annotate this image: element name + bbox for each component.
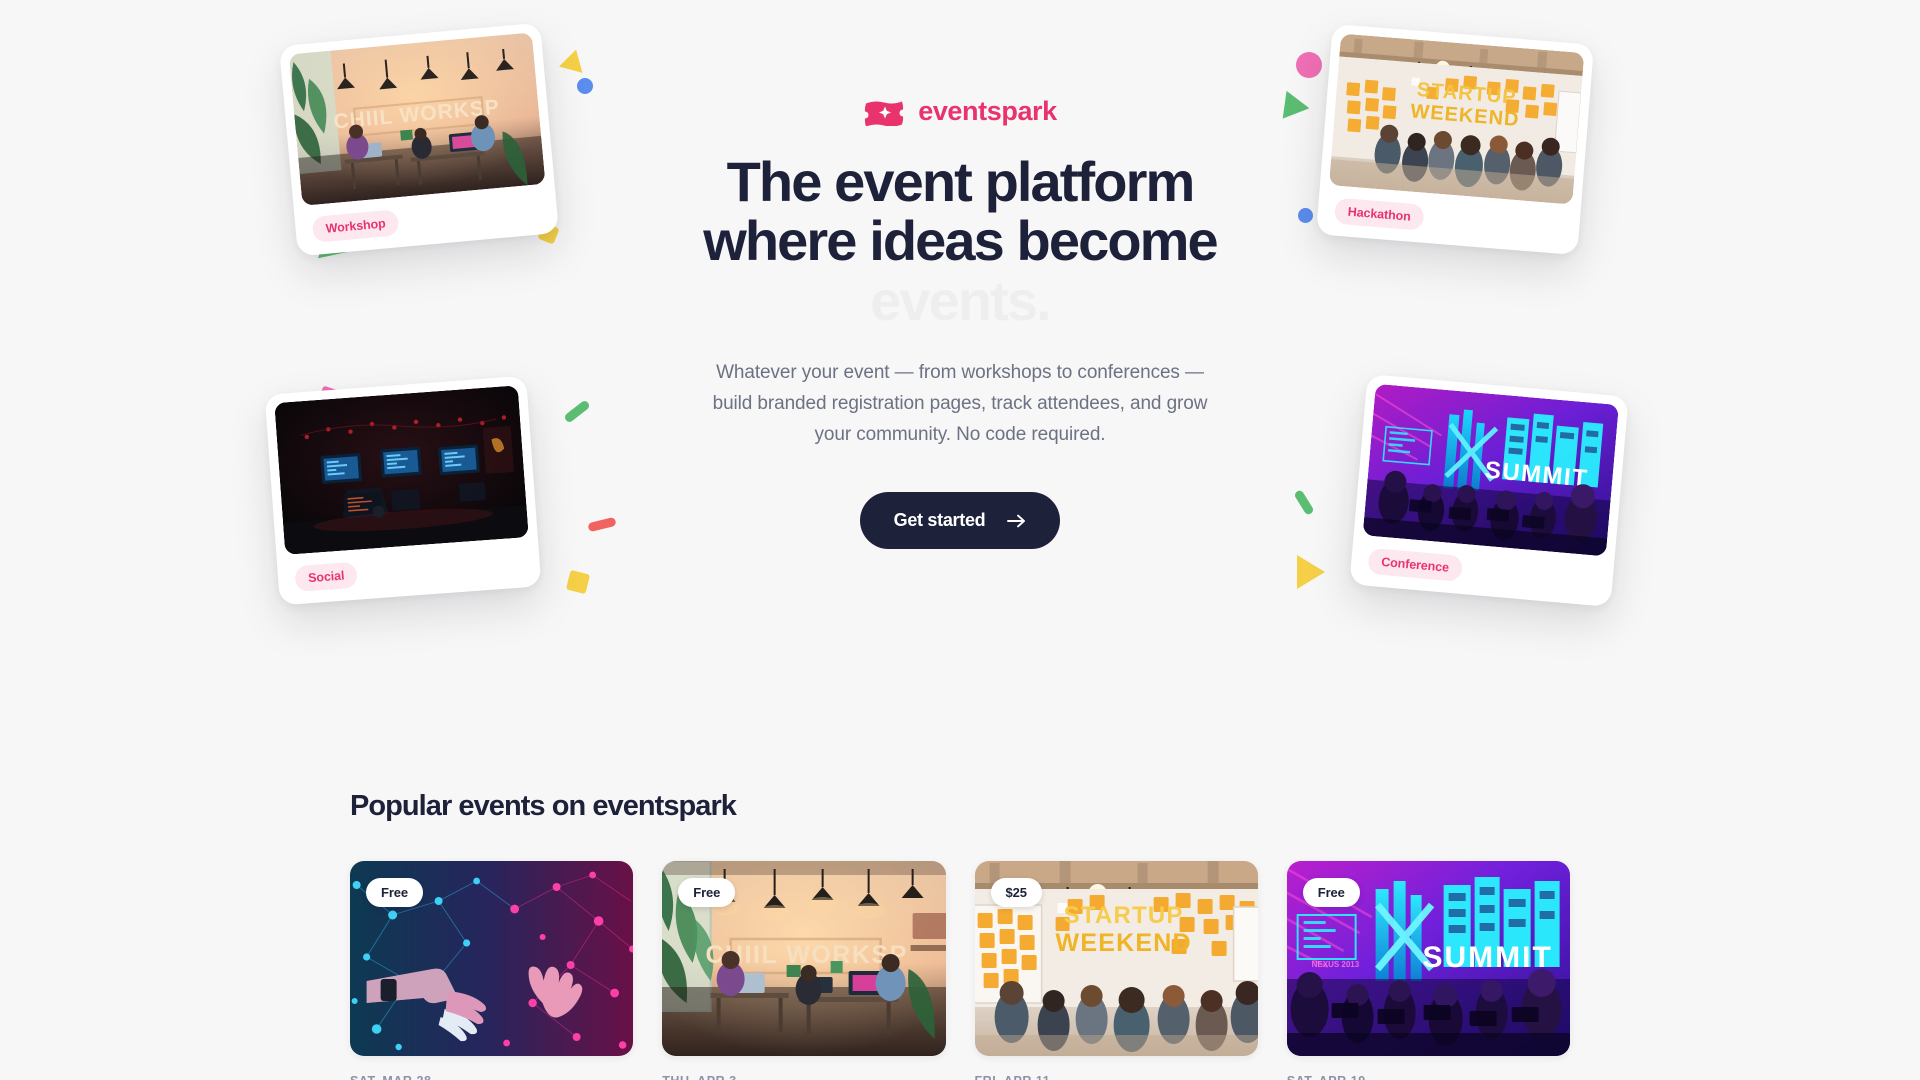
event-date: SAT, MAR 28 <box>350 1074 633 1080</box>
hero-content: eventspark The event platform where idea… <box>650 96 1270 549</box>
floating-card-badge: Conference <box>1367 548 1463 582</box>
event-price-badge: Free <box>1303 878 1360 907</box>
event-date: FRI, APR 11 <box>975 1074 1258 1080</box>
cta-container: Get started <box>650 492 1270 549</box>
event-price-badge: $25 <box>991 878 1042 907</box>
get-started-button[interactable]: Get started <box>860 492 1061 549</box>
confetti-dash-red <box>587 517 616 533</box>
ticket-icon <box>863 98 905 126</box>
confetti-triangle-yellow-right <box>1297 555 1325 589</box>
floating-card-badge: Hackathon <box>1334 198 1425 231</box>
floating-card-workshop[interactable]: CHIIL WORKSP Workshop <box>279 23 559 257</box>
confetti-circle-blue-right <box>1298 208 1313 223</box>
confetti-square-yellow-2 <box>566 570 590 594</box>
event-date: THU, APR 3 <box>662 1074 945 1080</box>
floating-card-badge: Social <box>294 562 358 592</box>
floating-card-social[interactable]: Social <box>265 376 542 606</box>
svg-text:STARTUP: STARTUP <box>1063 902 1183 929</box>
floating-card-badge: Workshop <box>312 209 400 243</box>
popular-events-container: Popular events on eventspark <box>350 790 1570 1080</box>
event-image-ai-hackathon: Free <box>350 861 633 1056</box>
brand-name: eventspark <box>918 96 1057 127</box>
svg-text:NEXUS 2013: NEXUS 2013 <box>1311 960 1359 969</box>
event-image-startup-weekend: STARTUP WEEKEND <box>975 861 1258 1056</box>
svg-text:WEEKEND: WEEKEND <box>1055 929 1191 957</box>
confetti-dash-green-right <box>1293 489 1314 516</box>
arrow-right-icon <box>1007 514 1026 528</box>
event-grid: Free SAT, MAR 28 AI hackathon <box>350 861 1570 1080</box>
hero-subheadline: Whatever your event — from workshops to … <box>700 358 1220 450</box>
section-title: Popular events on eventspark <box>350 790 1570 823</box>
hero-section: CHIIL WORKSP Workshop <box>0 0 1920 745</box>
popular-events-section: Popular events on eventspark <box>0 745 1920 1080</box>
event-card[interactable]: Free SAT, MAR 28 AI hackathon <box>350 861 633 1080</box>
confetti-triangle-green-right <box>1283 91 1312 122</box>
floating-card-image-conference: SUMMIT <box>1363 384 1619 557</box>
svg-text:SUMMIT: SUMMIT <box>1422 941 1552 974</box>
headline-line-1: The event platform <box>650 152 1270 211</box>
event-price-badge: Free <box>678 878 735 907</box>
floating-card-hackathon[interactable]: STARTUP WEEKEND Hackathon <box>1316 24 1594 255</box>
confetti-triangle-yellow <box>559 50 591 82</box>
get-started-label: Get started <box>894 510 986 531</box>
event-price-badge: Free <box>366 878 423 907</box>
event-card[interactable]: STARTUP WEEKEND <box>975 861 1258 1080</box>
headline-line-2: where ideas become <box>650 211 1270 270</box>
page-title: The event platform where ideas become ev… <box>650 152 1270 330</box>
event-date: SAT, APR 19 <box>1287 1074 1570 1080</box>
event-card[interactable]: NEXUS 2013 <box>1287 861 1570 1080</box>
floating-card-image-workshop: CHIIL WORKSP <box>289 32 546 205</box>
confetti-circle-magenta <box>1296 52 1322 78</box>
brand-logo[interactable]: eventspark <box>650 96 1270 127</box>
event-card[interactable]: CHIIL WORKSP <box>662 861 945 1080</box>
confetti-dash-green <box>563 399 591 423</box>
event-image-chill-coworking: CHIIL WORKSP <box>662 861 945 1056</box>
event-image-vibe-coding-summit: NEXUS 2013 <box>1287 861 1570 1056</box>
floating-card-image-social <box>274 385 528 554</box>
confetti-circle-blue <box>577 78 593 94</box>
headline-line-3: events. <box>650 271 1270 330</box>
floating-card-conference[interactable]: SUMMIT Conference <box>1349 374 1628 607</box>
floating-card-image-hackathon: STARTUP WEEKEND <box>1329 34 1584 205</box>
